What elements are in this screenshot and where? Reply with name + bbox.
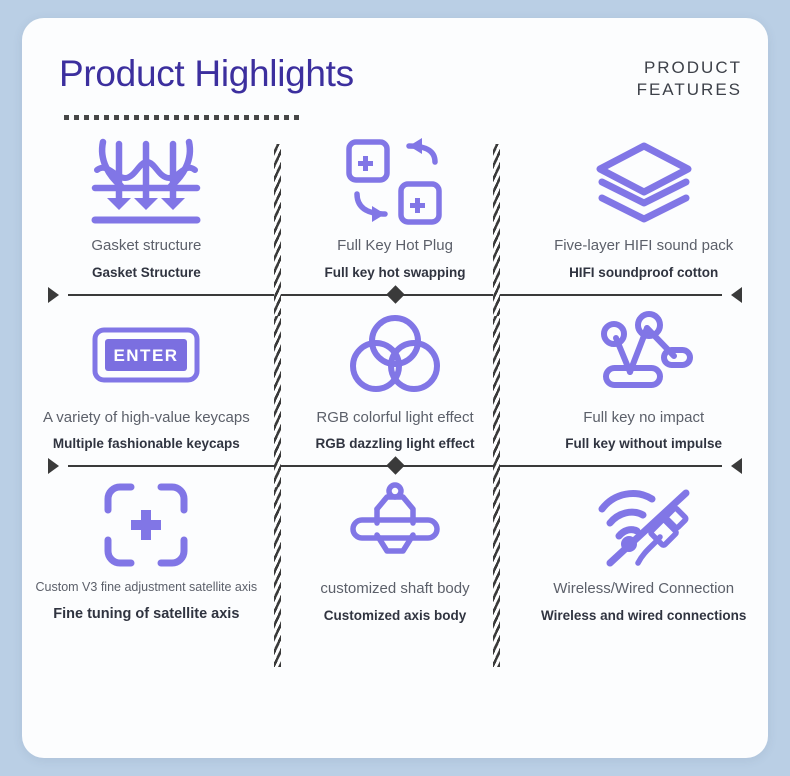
row-2-separator-2	[493, 316, 500, 496]
feature-cell-no-impact[interactable]: Full key no impact Full key without impu…	[519, 308, 768, 454]
wireless-wired-icon	[592, 479, 696, 571]
product-highlights-card: Product Highlights PRODUCT FEATURES	[22, 18, 768, 758]
caption-sub: HIFI soundproof cotton	[569, 265, 718, 282]
caption-main: A variety of high-value keycaps	[43, 409, 250, 428]
caption-sub: Full key hot swapping	[325, 265, 466, 282]
divider-center-diamond-icon	[386, 457, 404, 475]
row-3-separator-2	[493, 487, 500, 667]
divider-right-arrow-icon	[731, 287, 742, 303]
divider-left-arrow-icon	[48, 458, 59, 474]
section-divider-1	[38, 282, 752, 308]
row-1-separator-2	[493, 144, 500, 340]
caption-sub: Full key without impulse	[565, 436, 722, 453]
caption-main: customized shaft body	[320, 580, 469, 599]
caption-main: Custom V3 fine adjustment satellite axis	[36, 580, 258, 596]
caption-sub: Multiple fashionable keycaps	[53, 436, 240, 453]
feature-cell-rgb-light[interactable]: RGB colorful light effect RGB dazzling l…	[271, 308, 520, 454]
feature-cell-hot-swap[interactable]: Full Key Hot Plug Full key hot swapping …	[271, 136, 520, 282]
layer-stack-icon	[592, 136, 696, 228]
crosshair-plus-icon	[100, 479, 192, 571]
title-dotted-underline	[64, 115, 304, 120]
caption-sub: Fine tuning of satellite axis	[53, 605, 239, 623]
page-title: Product Highlights	[59, 53, 354, 95]
divider-center-diamond-icon	[386, 285, 404, 303]
rgb-circles-icon	[345, 308, 445, 400]
caption-main: Full Key Hot Plug	[337, 237, 453, 256]
row-1-separator-1	[274, 144, 281, 340]
feature-row-2: ENTER A variety of high-value keycaps Mu…	[22, 308, 768, 454]
switch-body-icon	[343, 479, 447, 571]
caption-sub: Customized axis body	[324, 608, 467, 625]
header: Product Highlights PRODUCT FEATURES	[22, 18, 768, 136]
svg-text:ENTER: ENTER	[114, 346, 179, 365]
caption-sub: Wireless and wired connections	[541, 608, 746, 625]
caption-main: Five-layer HIFI sound pack	[554, 237, 733, 256]
divider-left-arrow-icon	[48, 287, 59, 303]
enter-keycap-icon: ENTER	[90, 308, 202, 400]
caption-main: Wireless/Wired Connection	[553, 580, 734, 599]
caption-main: Gasket structure	[91, 237, 201, 256]
feature-row-1: Gasket structure Gasket Structure	[22, 136, 768, 282]
feature-cell-connection[interactable]: Wireless/Wired Connection Wireless and w…	[519, 479, 768, 625]
row-2-separator-1	[274, 316, 281, 496]
feature-row-3: Custom V3 fine adjustment satellite axis…	[22, 479, 768, 625]
caption-main: RGB colorful light effect	[316, 409, 473, 428]
caption-sub: Gasket Structure	[92, 265, 201, 282]
no-impact-nodes-icon	[590, 308, 698, 400]
hot-swap-icon	[343, 136, 447, 228]
gasket-structure-icon	[87, 136, 205, 228]
caption-sub: RGB dazzling light effect	[316, 436, 475, 453]
feature-cell-gasket-structure[interactable]: Gasket structure Gasket Structure	[22, 136, 271, 282]
caption-main: Full key no impact	[583, 409, 704, 428]
feature-cell-axis-body[interactable]: customized shaft body Customized axis bo…	[271, 479, 520, 625]
feature-cell-keycaps[interactable]: ENTER A variety of high-value keycaps Mu…	[22, 308, 271, 454]
feature-cell-sound-pack[interactable]: Five-layer HIFI sound pack HIFI soundpro…	[519, 136, 768, 282]
feature-cell-satellite-axis[interactable]: Custom V3 fine adjustment satellite axis…	[22, 479, 271, 623]
row-3-separator-1	[274, 487, 281, 667]
product-features-kicker: PRODUCT FEATURES	[637, 57, 742, 102]
section-divider-2	[38, 453, 752, 479]
divider-right-arrow-icon	[731, 458, 742, 474]
